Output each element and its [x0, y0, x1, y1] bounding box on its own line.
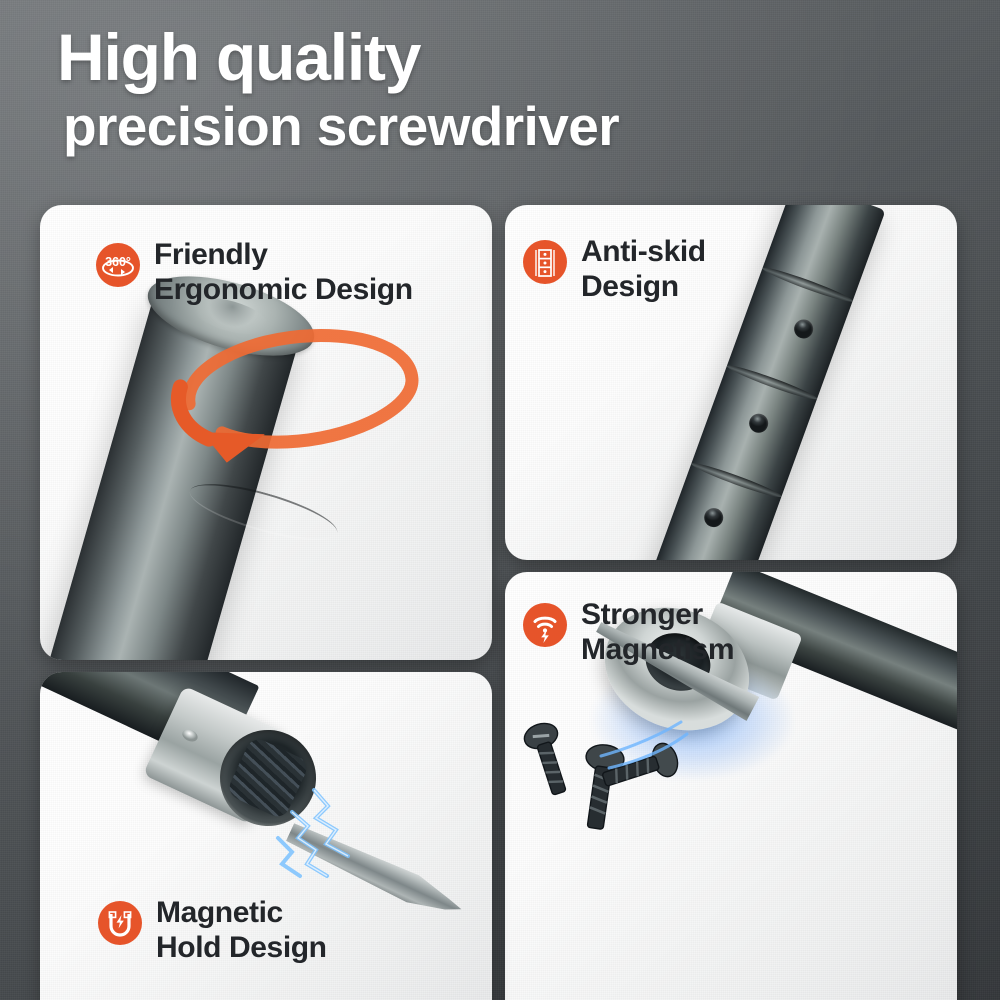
shaft-dot	[702, 505, 726, 529]
magnetic-field-glow	[543, 652, 793, 802]
cap-barrel	[40, 292, 301, 660]
feature-card-ergonomic: 360° Friendly Ergonomic Design	[40, 205, 492, 660]
feature-card-antiskid: Anti-skid Design	[505, 205, 957, 560]
anti-skid-shaft-icon	[523, 240, 567, 284]
360-rotation-icon: 360°	[96, 243, 140, 287]
rotation-arrow	[146, 304, 446, 498]
antiskid-card-title: Anti-skid Design	[581, 235, 706, 305]
headline-primary: High quality	[57, 24, 619, 90]
magnetic-handle	[40, 672, 259, 770]
headline-block: High quality precision screwdriver	[57, 24, 619, 158]
svg-text:360°: 360°	[105, 255, 131, 269]
feature-card-magnetic-hold: Magnetic Hold Design	[40, 672, 492, 1000]
antiskid-card-header: Anti-skid Design	[523, 235, 706, 305]
shaft-dot	[746, 411, 770, 435]
feature-card-magnetism: Stronger Magnetism	[505, 572, 957, 1000]
cap-seam-ring	[185, 473, 343, 552]
magnetism-card-header: Stronger Magnetism	[523, 598, 734, 668]
product-infographic: High quality precision screwdriver	[0, 0, 1000, 1000]
shaft-dot	[791, 317, 815, 341]
attracted-screws	[505, 664, 805, 884]
magnetism-handle	[710, 572, 957, 753]
ergonomic-card-header: 360° Friendly Ergonomic Design	[96, 238, 413, 308]
magnetism-card-title: Stronger Magnetism	[581, 598, 734, 668]
magnetic-hold-card-header: Magnetic Hold Design	[98, 896, 327, 966]
chuck-highlight-dot	[180, 727, 199, 744]
headline-secondary: precision screwdriver	[63, 96, 619, 158]
chuck-socket-interior	[225, 735, 310, 820]
chuck-socket	[204, 714, 332, 842]
magnet-wave-icon	[523, 603, 567, 647]
chuck-collar	[143, 686, 291, 825]
horseshoe-magnet-icon	[98, 901, 142, 945]
shaft-groove	[725, 362, 818, 403]
shaft-groove	[761, 264, 854, 305]
shaft-groove	[690, 459, 783, 500]
ergonomic-card-title: Friendly Ergonomic Design	[154, 238, 413, 308]
magnetic-hold-card-title: Magnetic Hold Design	[156, 896, 327, 966]
